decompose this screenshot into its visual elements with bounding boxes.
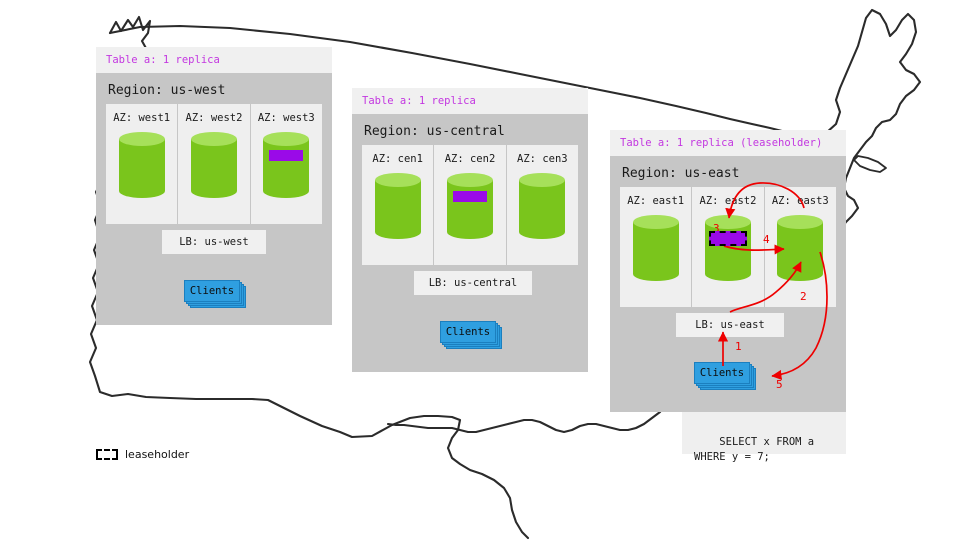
cylinder-top [705, 215, 751, 229]
clients-us-west[interactable]: Clients [184, 280, 240, 302]
range-replica-cen2 [453, 191, 487, 202]
legend-label: leaseholder [125, 448, 189, 461]
az-label-cen2: AZ: cen2 [434, 145, 505, 165]
cylinder-body [777, 222, 823, 274]
az-cell-cen1[interactable]: AZ: cen1 [362, 145, 434, 265]
db-node-cen2[interactable] [447, 173, 493, 239]
region-header-us-west: Table a: 1 replica [96, 47, 332, 73]
az-cell-east1[interactable]: AZ: east1 [620, 187, 692, 307]
cylinder-body [263, 139, 309, 191]
az-row-us-central: AZ: cen1 AZ: cen2 AZ: cen3 [362, 145, 578, 265]
cylinder-body [447, 180, 493, 232]
region-title-us-central: Region: us-central [352, 114, 588, 145]
az-label-east1: AZ: east1 [620, 187, 691, 207]
load-balancer-label: LB: us-east [695, 319, 765, 331]
cylinder-body [705, 222, 751, 274]
db-node-cen1[interactable] [375, 173, 421, 239]
az-row-us-east: AZ: east1 AZ: east2 AZ: east3 [620, 187, 836, 307]
cylinder-top [777, 215, 823, 229]
load-balancer-label: LB: us-central [429, 277, 518, 289]
db-node-cen3[interactable] [519, 173, 565, 239]
az-label-cen3: AZ: cen3 [507, 145, 578, 165]
cylinder-top [191, 132, 237, 146]
load-balancer-us-west[interactable]: LB: us-west [162, 230, 266, 254]
cylinder-top [519, 173, 565, 187]
az-label-west1: AZ: west1 [106, 104, 177, 124]
cylinder-body [633, 222, 679, 274]
db-node-west2[interactable] [191, 132, 237, 198]
range-leaseholder-east2 [709, 231, 747, 246]
sql-query-text: SELECT x FROM a WHERE y = 7; [694, 436, 814, 463]
region-panel-us-central[interactable]: Table a: 1 replica Region: us-central AZ… [352, 88, 588, 372]
cylinder-top [119, 132, 165, 146]
az-cell-west3[interactable]: AZ: west3 [251, 104, 322, 224]
legend: leaseholder [96, 448, 189, 461]
az-row-us-west: AZ: west1 AZ: west2 AZ: west3 [106, 104, 322, 224]
az-label-west3: AZ: west3 [251, 104, 322, 124]
az-cell-cen3[interactable]: AZ: cen3 [507, 145, 578, 265]
load-balancer-label: LB: us-west [179, 236, 249, 248]
cylinder-top [447, 173, 493, 187]
cylinder-top [633, 215, 679, 229]
region-panel-us-west[interactable]: Table a: 1 replica Region: us-west AZ: w… [96, 47, 332, 325]
region-title-us-east: Region: us-east [610, 156, 846, 187]
clients-us-east[interactable]: Clients [694, 362, 750, 384]
region-header-us-central: Table a: 1 replica [352, 88, 588, 114]
cylinder-top [375, 173, 421, 187]
db-node-east2[interactable] [705, 215, 751, 281]
clients-label: Clients [694, 362, 750, 384]
cylinder-top [263, 132, 309, 146]
az-cell-west1[interactable]: AZ: west1 [106, 104, 178, 224]
cylinder-body [375, 180, 421, 232]
clients-label: Clients [440, 321, 496, 343]
db-node-west3[interactable] [263, 132, 309, 198]
sql-query-box: SELECT x FROM a WHERE y = 7; [682, 412, 846, 454]
clients-label: Clients [184, 280, 240, 302]
clients-us-central[interactable]: Clients [440, 321, 496, 343]
az-label-cen1: AZ: cen1 [362, 145, 433, 165]
az-cell-cen2[interactable]: AZ: cen2 [434, 145, 506, 265]
db-node-west1[interactable] [119, 132, 165, 198]
region-panel-us-east[interactable]: Table a: 1 replica (leaseholder) Region:… [610, 130, 846, 412]
db-node-east3[interactable] [777, 215, 823, 281]
diagram-canvas: Table a: 1 replica Region: us-west AZ: w… [0, 0, 960, 540]
cylinder-body [119, 139, 165, 191]
db-node-east1[interactable] [633, 215, 679, 281]
load-balancer-us-east[interactable]: LB: us-east [676, 313, 784, 337]
range-replica-west3 [269, 150, 303, 161]
az-label-east3: AZ: east3 [765, 187, 836, 207]
load-balancer-us-central[interactable]: LB: us-central [414, 271, 532, 295]
cylinder-body [191, 139, 237, 191]
az-cell-east3[interactable]: AZ: east3 [765, 187, 836, 307]
region-header-us-east: Table a: 1 replica (leaseholder) [610, 130, 846, 156]
az-cell-east2[interactable]: AZ: east2 [692, 187, 764, 307]
cylinder-body [519, 180, 565, 232]
az-label-east2: AZ: east2 [692, 187, 763, 207]
az-label-west2: AZ: west2 [178, 104, 249, 124]
az-cell-west2[interactable]: AZ: west2 [178, 104, 250, 224]
dashed-rect-icon [96, 449, 118, 460]
region-title-us-west: Region: us-west [96, 73, 332, 104]
